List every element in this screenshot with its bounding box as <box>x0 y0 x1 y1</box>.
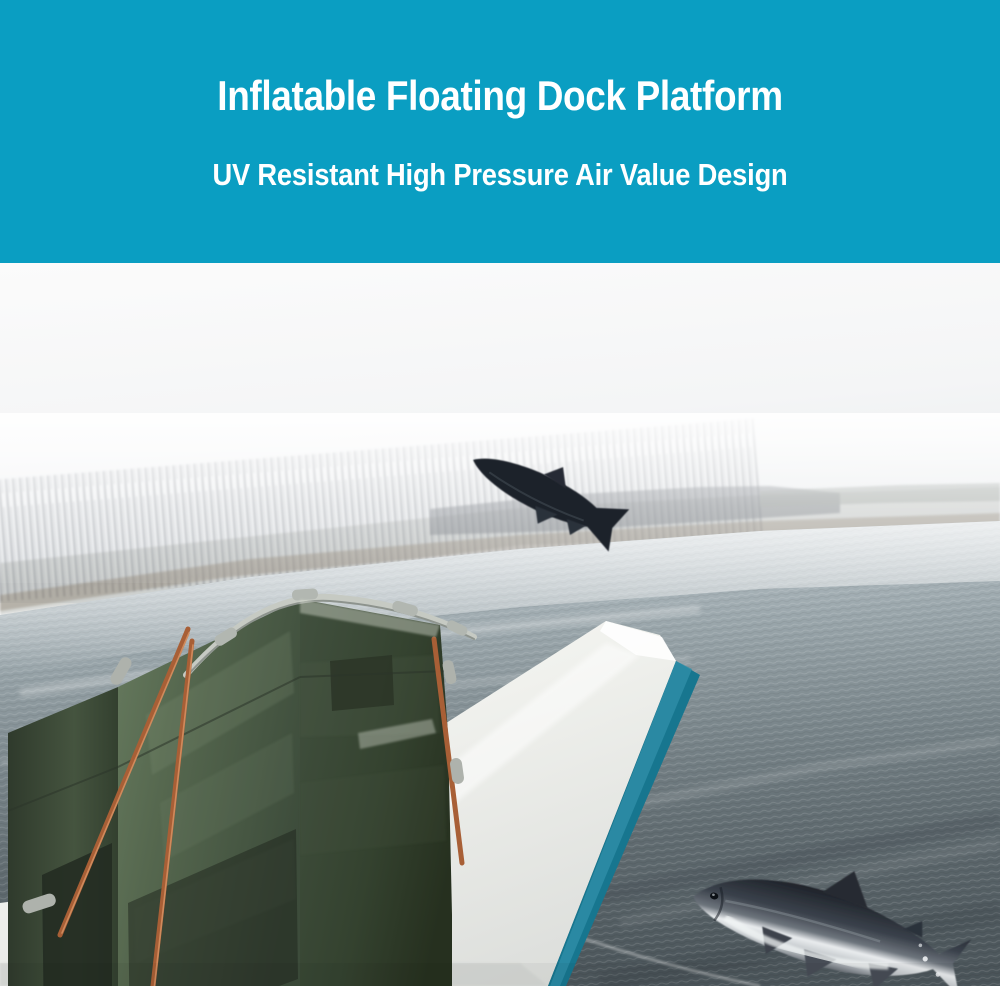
lake-scene-illustration <box>0 263 1000 986</box>
header-banner: Inflatable Floating Dock Platform UV Res… <box>0 0 1000 263</box>
page-title: Inflatable Floating Dock Platform <box>60 72 940 120</box>
product-banner-page: Inflatable Floating Dock Platform UV Res… <box>0 0 1000 1000</box>
page-subtitle: UV Resistant High Pressure Air Value Des… <box>60 157 940 193</box>
product-photo <box>0 263 1000 986</box>
bottom-margin <box>0 986 1000 1000</box>
